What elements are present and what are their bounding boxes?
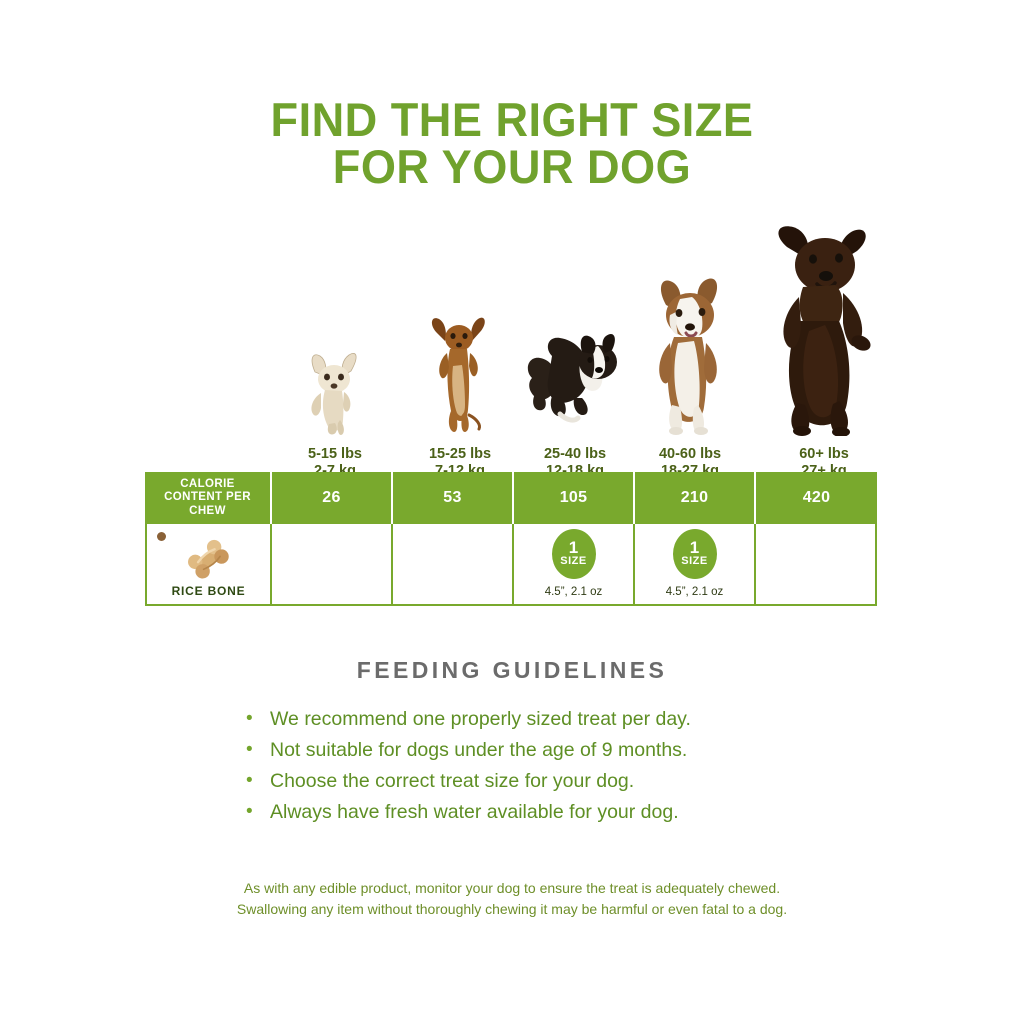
list-item: • We recommend one properly sized treat … [246,708,846,730]
calorie-cell-5: 420 [756,472,877,524]
product-cell-1 [272,524,393,604]
list-item: • Choose the correct treat size for your… [246,770,846,792]
list-item-text: Always have fresh water available for yo… [270,801,679,823]
product-label-cell: RICE BONE [145,524,272,604]
size-spec: 4.5”, 2.1 oz [666,586,724,598]
calorie-cell-2: 53 [393,472,514,524]
weight-lbs: 15-25 lbs [429,446,491,462]
dog-column-dachshund: 15-25 lbs 7-12 kg [410,311,510,480]
bullet-icon: • [246,708,270,730]
husky-icon [644,271,736,436]
weight-lbs: 60+ lbs [799,446,849,462]
disclaimer: As with any edible product, monitor your… [0,878,1024,920]
dachshund-icon [425,311,495,436]
list-item-text: We recommend one properly sized treat pe… [270,708,691,730]
disclaimer-line-1: As with any edible product, monitor your… [0,878,1024,899]
size-badge: 1 SIZE [673,529,717,579]
bullet-icon: • [246,739,270,761]
chihuahua-icon [299,346,371,436]
dog-column-husky: 40-60 lbs 18-27 kg [632,271,748,480]
weight-lbs: 25-40 lbs [544,446,606,462]
dog-size-strip: 5-15 lbs 2-7 kg [0,230,1024,480]
calorie-header-line-1: CALORIE [180,478,235,490]
calorie-header-row: CALORIE CONTENT PER CHEW 26 53 105 210 4… [145,472,877,524]
bone-icon [182,534,236,591]
calorie-cell-4: 210 [635,472,756,524]
calorie-cell-1: 26 [272,472,393,524]
bullet-icon: • [246,770,270,792]
product-cell-3: 1 SIZE 4.5”, 2.1 oz [514,524,635,604]
dog-column-border-collie: 25-40 lbs 12-18 kg [520,326,630,480]
weight-lbs: 5-15 lbs [308,446,362,462]
calorie-header-label-cell: CALORIE CONTENT PER CHEW [145,472,272,524]
labrador-icon [765,221,883,436]
size-badge: 1 SIZE [552,529,596,579]
page-title-line-2: FOR YOUR DOG [20,143,1003,190]
product-row-rice-bone: RICE BONE 1 SIZE 4.5”, 2.1 oz 1 SIZE 4.5… [145,524,877,606]
list-item: • Not suitable for dogs under the age of… [246,739,846,761]
calorie-cell-3: 105 [514,472,635,524]
badge-count: 1 [690,540,699,555]
calorie-value: 420 [803,489,831,507]
calorie-header-line-2: CONTENT PER [164,491,251,503]
feeding-guidelines-heading: FEEDING GUIDELINES [0,657,1024,684]
list-item: • Always have fresh water available for … [246,801,846,823]
product-cell-5 [756,524,877,604]
product-name: RICE BONE [147,584,270,598]
dog-column-chihuahua: 5-15 lbs 2-7 kg [285,346,385,480]
page-title: FIND THE RIGHT SIZE FOR YOUR DOG [20,96,1003,190]
bullet-icon: • [246,801,270,823]
list-item-text: Not suitable for dogs under the age of 9… [270,739,687,761]
calorie-value: 210 [681,489,709,507]
calorie-value: 105 [560,489,588,507]
size-chart-table: CALORIE CONTENT PER CHEW 26 53 105 210 4… [145,472,877,606]
product-cell-2 [393,524,514,604]
calorie-value: 26 [322,489,340,507]
dog-column-labrador: 60+ lbs 27+ kg [760,221,888,480]
calorie-header-line-3: CHEW [189,505,226,517]
list-item-text: Choose the correct treat size for your d… [270,770,634,792]
weight-lbs: 40-60 lbs [659,446,721,462]
page-title-line-1: FIND THE RIGHT SIZE [20,96,1003,143]
calorie-value: 53 [443,489,461,507]
size-spec: 4.5”, 2.1 oz [545,586,603,598]
product-cell-4: 1 SIZE 4.5”, 2.1 oz [635,524,756,604]
badge-label: SIZE [560,556,586,567]
badge-count: 1 [569,540,578,555]
badge-label: SIZE [681,556,707,567]
feeding-guidelines-list: • We recommend one properly sized treat … [246,708,846,832]
disclaimer-line-2: Swallowing any item without thoroughly c… [0,899,1024,920]
kibble-dot-icon [157,532,166,541]
border-collie-icon [522,326,628,436]
